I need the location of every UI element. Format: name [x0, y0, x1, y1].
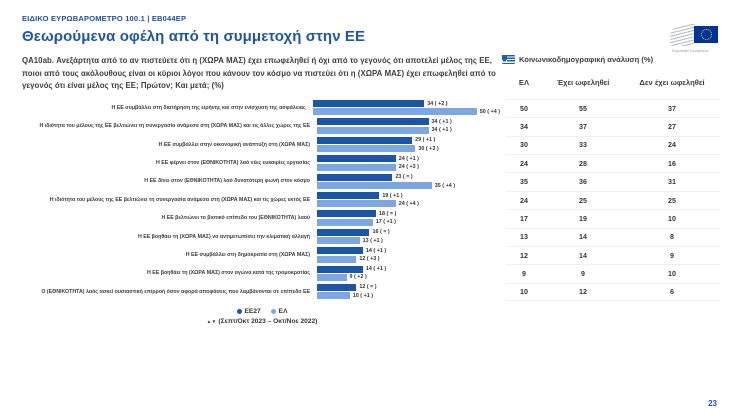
chart-bar-line: 35 ( +4 ): [317, 182, 500, 189]
page-number: 23: [708, 399, 717, 408]
chart-row: Η ΕΕ φέρνει στον (ΕΘΝΙΚΟΤΗΤΑ) λαό νέες ε…: [22, 154, 500, 172]
column-header-el: ΕΛ: [506, 78, 542, 87]
table-cell: 37: [624, 105, 720, 113]
chart-bar-line: 14 ( +1 ): [317, 266, 500, 273]
chart-bar-eu27: [317, 247, 363, 254]
table-cell: 13: [506, 233, 542, 241]
question-row: QA10ab. Ανεξάρτητα από το αν πιστεύετε ό…: [0, 45, 734, 93]
chart-bar-line: 12 ( = ): [317, 284, 500, 291]
table-cell: 10: [506, 288, 542, 296]
chart-bar-line: 9 ( +2 ): [317, 274, 500, 281]
chart-row: Ο (ΕΘΝΙΚΟΤΗΤΑ) λαός ασκεί ουσιαστική επι…: [22, 283, 500, 301]
table-row: 242525: [506, 191, 720, 209]
chart-bar-el: [317, 145, 415, 152]
chart-bar-eu27: [317, 210, 376, 217]
chart-bar-group: 34 ( +1 )34 ( +1 ): [317, 118, 500, 134]
table-cell: 31: [624, 178, 720, 186]
table-cell: 6: [624, 288, 720, 296]
greece-flag-icon: [502, 55, 515, 64]
chart-bar-group: 14 ( +1 )9 ( +2 ): [317, 266, 500, 282]
footnote-period: (Σεπτ/Οκτ 2023 – Οκτ/Νοε 2022): [218, 318, 317, 325]
chart-bar-line: 12 ( +3 ): [317, 256, 500, 263]
column-header-benefited: Έχει ωφεληθεί: [542, 78, 624, 87]
table-row: 505537: [506, 99, 720, 117]
chart-bar-group: 16 ( = )13 ( +1 ): [317, 229, 500, 245]
chart-bar-group: 29 ( +1 )30 ( +3 ): [317, 137, 500, 153]
chart-category-label: Η ΕΕ δίνει στον (ΕΘΝΙΚΟΤΗΤΑ) λαό δυνατότ…: [22, 178, 317, 185]
chart-bar-eu27: [317, 137, 412, 144]
table-cell: 34: [506, 123, 542, 131]
chart-row: Η ΕΕ βελτιώνει το βιοτικό επίπεδο του (Ε…: [22, 209, 500, 227]
demographics-title-label: Κοινωνικοδημογραφική ανάλυση (%): [519, 55, 653, 64]
legend-swatch-icon: [237, 309, 242, 314]
chart-value-label: 24 ( +4 ): [399, 201, 419, 207]
chart-bar-el: [317, 164, 396, 171]
chart-bar-eu27: [317, 174, 392, 181]
demographics-header: Κοινωνικοδημογραφική ανάλυση (%) ΕΛ Έχει…: [496, 55, 720, 93]
chart-bar-group: 24 ( +1 )24 ( +3 ): [317, 155, 500, 171]
chart-value-label: 12 ( +3 ): [359, 256, 379, 262]
chart-bar-group: 19 ( +1 )24 ( +4 ): [317, 192, 500, 208]
table-row: 9910: [506, 264, 720, 282]
chart-value-label: 35 ( +4 ): [435, 183, 455, 189]
chart-bar-group: 34 ( +2 )50 ( +4 ): [313, 100, 500, 116]
chart-bar-line: 13 ( +1 ): [317, 237, 500, 244]
chart-value-label: 24 ( +3 ): [399, 164, 419, 170]
chart-value-label: 29 ( +1 ): [415, 137, 435, 143]
slide-header: ΕΙΔΙΚΟ ΕΥΡΩΒΑΡΟΜΕΤΡΟ 100.1 | EB044EP Θεω…: [0, 0, 734, 45]
chart-bar-line: 19 ( +1 ): [317, 192, 500, 199]
table-cell: 27: [624, 123, 720, 131]
chart-category-label: Η ΕΕ συμβάλλει στη διατήρηση της ειρήνης…: [22, 105, 313, 112]
chart-category-label: Η ΕΕ βοηθάει τη (ΧΩΡΑ ΜΑΣ) στον αγώνα κα…: [22, 270, 317, 277]
chart-value-label: 23 ( = ): [395, 174, 412, 180]
legend-item: ΕΛ: [271, 308, 288, 315]
demographics-title: Κοινωνικοδημογραφική ανάλυση (%): [502, 55, 720, 64]
chart-bar-el: [317, 237, 360, 244]
table-cell: 25: [542, 197, 624, 205]
chart-bar-line: 24 ( +1 ): [317, 155, 500, 162]
chart-row: Η ΕΕ συμβάλλει στη διατήρηση της ειρήνης…: [22, 99, 500, 117]
table-row: 13148: [506, 228, 720, 246]
table-cell: 14: [542, 252, 624, 260]
table-column-headers: ΕΛ Έχει ωφεληθεί Δεν έχει ωφεληθεί: [502, 78, 720, 87]
table-cell: 9: [624, 252, 720, 260]
table-cell: 16: [624, 160, 720, 168]
table-cell: 24: [624, 141, 720, 149]
chart-value-label: 16 ( = ): [372, 229, 389, 235]
legend-label: ΕΕ27: [245, 308, 261, 315]
chart-bar-group: 23 ( = )35 ( +4 ): [317, 174, 500, 190]
chart-value-label: 24 ( +1 ): [399, 156, 419, 162]
chart-bar-el: [317, 274, 347, 281]
legend-swatch-icon: [271, 309, 276, 314]
chart-category-label: Η ΕΕ συμβάλλει στην οικονομική ανάπτυξη …: [22, 142, 317, 149]
chart-row: Η ιδιότητα του μέλους της ΕΕ βελτιώνει τ…: [22, 117, 500, 135]
chart-value-label: 34 ( +1 ): [432, 119, 452, 125]
chart-bar-eu27: [317, 284, 356, 291]
chart-row: Η ΕΕ συμβάλλει στην οικονομική ανάπτυξη …: [22, 136, 500, 154]
table-cell: 55: [542, 105, 624, 113]
chart-legend: ΕΕ27ΕΛ: [0, 308, 734, 315]
table-row: 171910: [506, 209, 720, 227]
bar-chart: Η ΕΕ συμβάλλει στη διατήρηση της ειρήνης…: [22, 99, 500, 301]
table-cell: 8: [624, 233, 720, 241]
chart-bar-eu27: [317, 118, 429, 125]
chart-bar-line: 14 ( +1 ): [317, 247, 500, 254]
table-row: 303324: [506, 136, 720, 154]
table-cell: 28: [542, 160, 624, 168]
chart-value-label: 18 ( = ): [379, 211, 396, 217]
chart-bar-group: 18 ( = )17 ( +1 ): [317, 210, 500, 226]
chart-value-label: 17 ( +1 ): [376, 219, 396, 225]
chart-value-label: 9 ( +2 ): [350, 274, 367, 280]
chart-row: Η ΕΕ βοηθάει τη (ΧΩΡΑ ΜΑΣ) στον αγώνα κα…: [22, 264, 500, 282]
chart-bar-line: 34 ( +2 ): [313, 100, 500, 107]
chart-value-label: 13 ( +1 ): [363, 238, 383, 244]
chart-row: Η ΕΕ δίνει στον (ΕΘΝΙΚΟΤΗΤΑ) λαό δυνατότ…: [22, 172, 500, 190]
demographics-table: 5055373437273033242428163536312425251719…: [500, 99, 720, 301]
chart-bar-line: 10 ( +1 ): [317, 292, 500, 299]
chart-bar-line: 24 ( +4 ): [317, 200, 500, 207]
chart-category-label: Η ΕΕ συμβάλλει στη δημοκρατία στη (ΧΩΡΑ …: [22, 252, 317, 259]
chart-bar-line: 34 ( +1 ): [317, 127, 500, 134]
chart-value-label: 34 ( +2 ): [427, 101, 447, 107]
eu-flag-icon: [694, 26, 718, 43]
table-cell: 24: [506, 160, 542, 168]
column-header-not-benefited: Δεν έχει ωφεληθεί: [624, 78, 720, 87]
table-cell: 17: [506, 215, 542, 223]
table-cell: 35: [506, 178, 542, 186]
table-row: 343727: [506, 117, 720, 135]
table-cell: 30: [506, 141, 542, 149]
european-parliament-logo: Ευρωπαϊκό Κοινοβούλιο: [670, 22, 720, 52]
chart-value-label: 30 ( +3 ): [418, 146, 438, 152]
legend-item: ΕΕ27: [237, 308, 261, 315]
trend-arrows-icon: ▲▼: [207, 319, 217, 324]
table-cell: 37: [542, 123, 624, 131]
chart-category-label: Ο (ΕΘΝΙΚΟΤΗΤΑ) λαός ασκεί ουσιαστική επι…: [22, 289, 317, 296]
table-cell: 9: [506, 270, 542, 278]
chart-bar-group: 14 ( +1 )12 ( +3 ): [317, 247, 500, 263]
chart-bar-el: [317, 256, 356, 263]
chart-value-label: 10 ( +1 ): [353, 293, 373, 299]
table-cell: 19: [542, 215, 624, 223]
chart-bar-group: 12 ( = )10 ( +1 ): [317, 284, 500, 300]
chart-and-table: Η ΕΕ συμβάλλει στη διατήρηση της ειρήνης…: [0, 93, 734, 301]
table-cell: 25: [624, 197, 720, 205]
chart-value-label: 14 ( +1 ): [366, 266, 386, 272]
chart-bar-eu27: [317, 266, 363, 273]
logo-caption: Ευρωπαϊκό Κοινοβούλιο: [672, 49, 709, 53]
chart-bar-line: 18 ( = ): [317, 210, 500, 217]
chart-value-label: 12 ( = ): [359, 284, 376, 290]
table-row: 10126: [506, 283, 720, 301]
table-cell: 36: [542, 178, 624, 186]
chart-bar-eu27: [317, 229, 369, 236]
chart-category-label: Η ιδιότητα του μέλους της ΕΕ βελτιώνει τ…: [22, 197, 317, 204]
chart-bar-line: 29 ( +1 ): [317, 137, 500, 144]
chart-row: Η ΕΕ συμβάλλει στη δημοκρατία στη (ΧΩΡΑ …: [22, 246, 500, 264]
chart-bar-el: [317, 127, 429, 134]
survey-eyebrow: ΕΙΔΙΚΟ ΕΥΡΩΒΑΡΟΜΕΤΡΟ 100.1 | EB044EP: [22, 14, 734, 23]
chart-bar-el: [317, 182, 432, 189]
chart-value-label: 34 ( +1 ): [432, 127, 452, 133]
table-cell: 10: [624, 215, 720, 223]
chart-bar-line: 34 ( +1 ): [317, 118, 500, 125]
table-cell: 10: [624, 270, 720, 278]
chart-bar-el: [317, 200, 396, 207]
chart-bar-el: [317, 292, 350, 299]
table-cell: 24: [506, 197, 542, 205]
table-cell: 50: [506, 105, 542, 113]
chart-category-label: Η ιδιότητα του μέλους της ΕΕ βελτιώνει τ…: [22, 123, 317, 130]
table-row: 353631: [506, 172, 720, 190]
chart-bar-eu27: [313, 100, 425, 107]
page-title: Θεωρούμενα οφέλη από τη συμμετοχή στην Ε…: [22, 28, 734, 45]
chart-bar-line: 17 ( +1 ): [317, 219, 500, 226]
chart-category-label: Η ΕΕ βελτιώνει το βιοτικό επίπεδο του (Ε…: [22, 215, 317, 222]
chart-value-label: 50 ( +4 ): [480, 109, 500, 115]
chart-bar-line: 16 ( = ): [317, 229, 500, 236]
chart-bar-line: 24 ( +3 ): [317, 164, 500, 171]
chart-row: Η ιδιότητα του μέλους της ΕΕ βελτιώνει τ…: [22, 191, 500, 209]
chart-row: Η ΕΕ βοηθάει τη (ΧΩΡΑ ΜΑΣ) να αντιμετωπί…: [22, 228, 500, 246]
chart-value-label: 14 ( +1 ): [366, 248, 386, 254]
chart-bar-line: 30 ( +3 ): [317, 145, 500, 152]
chart-category-label: Η ΕΕ φέρνει στον (ΕΘΝΙΚΟΤΗΤΑ) λαό νέες ε…: [22, 160, 317, 167]
question-text: QA10ab. Ανεξάρτητα από το αν πιστεύετε ό…: [22, 55, 496, 93]
table-cell: 14: [542, 233, 624, 241]
chart-footnote: ▲▼ (Σεπτ/Οκτ 2023 – Οκτ/Νοε 2022): [0, 318, 734, 325]
chart-bar-eu27: [317, 155, 396, 162]
chart-bar-el: [313, 108, 477, 115]
table-cell: 12: [542, 288, 624, 296]
chart-value-label: 19 ( +1 ): [382, 193, 402, 199]
table-cell: 33: [542, 141, 624, 149]
chart-bar-el: [317, 219, 373, 226]
chart-bar-line: 23 ( = ): [317, 174, 500, 181]
table-cell: 12: [506, 252, 542, 260]
table-cell: 9: [542, 270, 624, 278]
chart-bar-eu27: [317, 192, 379, 199]
chart-category-label: Η ΕΕ βοηθάει τη (ΧΩΡΑ ΜΑΣ) να αντιμετωπί…: [22, 234, 317, 241]
table-row: 242816: [506, 154, 720, 172]
chart-bar-line: 50 ( +4 ): [313, 108, 500, 115]
legend-label: ΕΛ: [279, 308, 288, 315]
table-row: 12149: [506, 246, 720, 264]
